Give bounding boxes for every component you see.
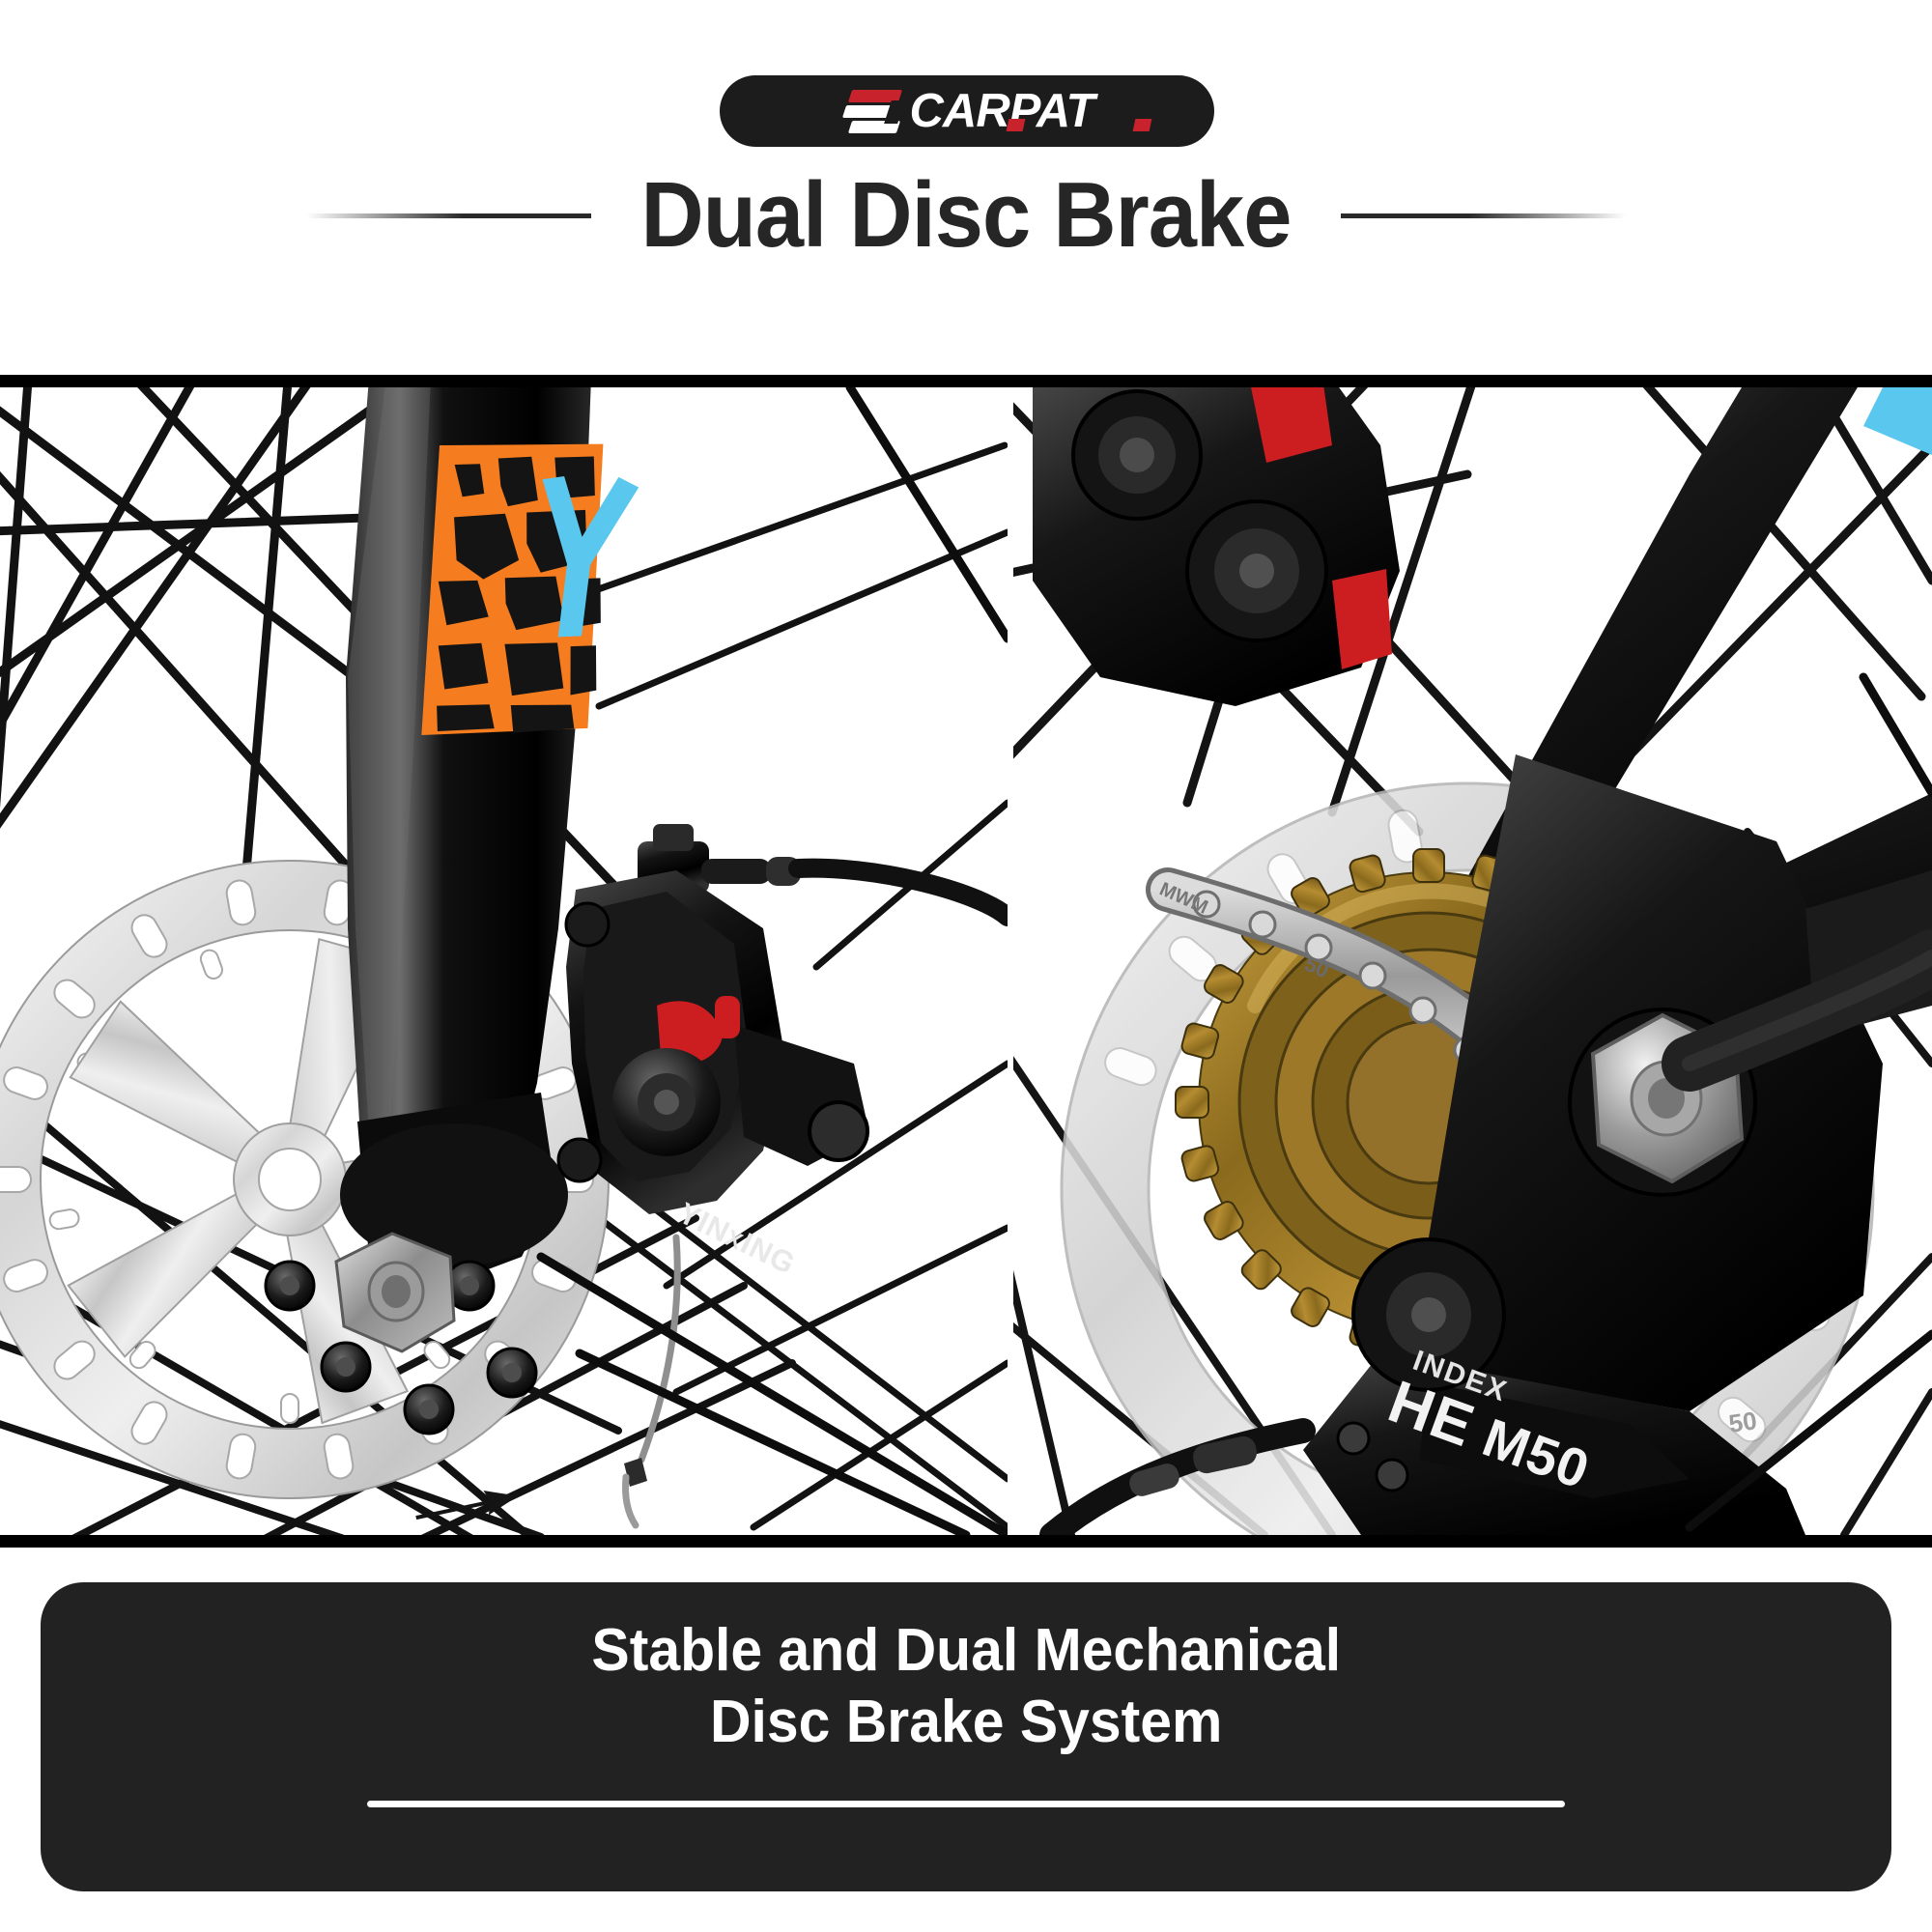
caption-line-1: Stable and Dual Mechanical xyxy=(591,1615,1341,1687)
page-title-row: Dual Disc Brake xyxy=(0,162,1932,269)
brand-logo-label: CARPAT xyxy=(910,85,1094,137)
caption-underline xyxy=(367,1801,1565,1807)
rear-brake-caliper xyxy=(1033,387,1400,706)
rear-disc-brake-photo: 50 MWM xyxy=(1013,387,1932,1535)
page-title: Dual Disc Brake xyxy=(640,169,1291,262)
title-rule-left xyxy=(306,213,591,218)
guard-stamp-label: 50 xyxy=(1727,1406,1759,1438)
product-feature-card: CARPAT Dual Disc Brake xyxy=(0,0,1932,1932)
carpat-chevron-mark-icon xyxy=(840,89,900,133)
photo-divider xyxy=(1008,387,1013,1535)
brand-logo-badge: CARPAT xyxy=(720,75,1214,147)
caption-line-2: Disc Brake System xyxy=(710,1687,1222,1758)
title-rule-right xyxy=(1341,213,1626,218)
rear-brake-illustration: 50 MWM xyxy=(1013,387,1932,1535)
photo-band: YINXING xyxy=(0,375,1932,1548)
brand-logo-text: CARPAT xyxy=(910,89,1094,133)
header: CARPAT Dual Disc Brake xyxy=(0,0,1932,375)
front-brake-illustration: YINXING xyxy=(0,387,1008,1535)
logo-accent-dot-a xyxy=(1006,119,1025,131)
caption-box: Stable and Dual Mechanical Disc Brake Sy… xyxy=(41,1582,1891,1891)
logo-accent-dot-t xyxy=(1132,119,1151,131)
front-disc-brake-photo: YINXING xyxy=(0,387,1008,1535)
